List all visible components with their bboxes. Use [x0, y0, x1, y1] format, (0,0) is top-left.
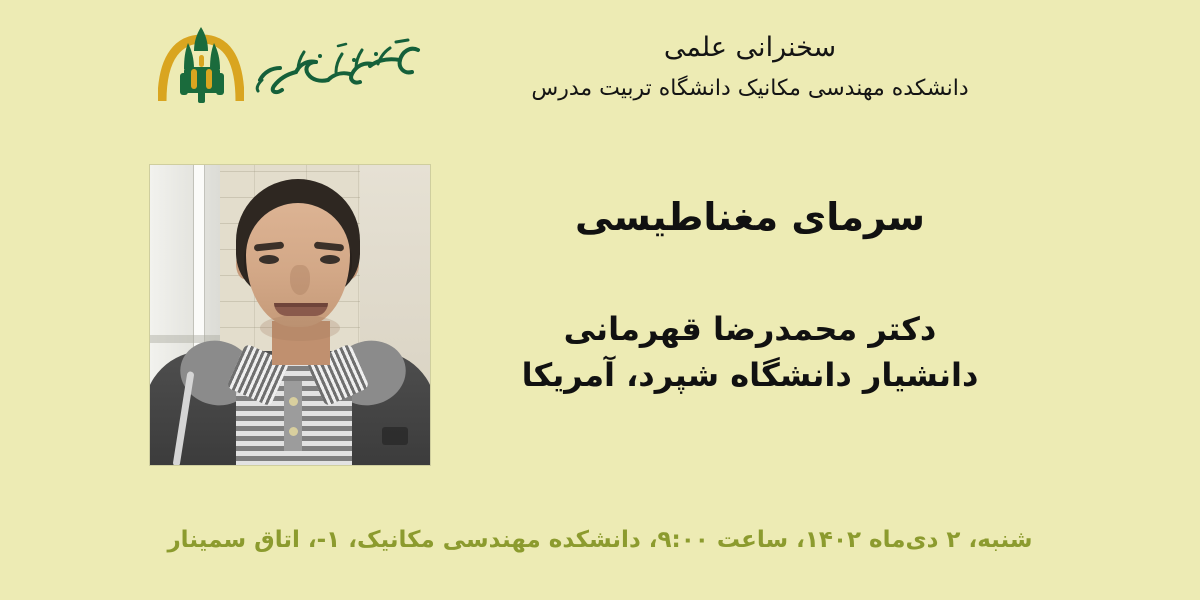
nose [290, 265, 310, 295]
vest-brand-patch [382, 427, 408, 445]
shirt-button [289, 427, 298, 436]
university-logo: دانشگاه تربیت مدرس [158, 24, 428, 106]
poster-main-text: سرمای مغناطیسی دکتر محمدرضا قهرمانی دانش… [440, 190, 1060, 398]
speaker-block: دکتر محمدرضا قهرمانی دانشیار دانشگاه شپر… [440, 306, 1060, 398]
event-details: شنبه، ۲ دی‌ماه ۱۴۰۲، ساعت ۹:۰۰، دانشکده … [0, 522, 1200, 558]
shirt-button [289, 397, 298, 406]
talk-title: سرمای مغناطیسی [440, 190, 1060, 244]
header-event-type: سخنرانی علمی [440, 28, 1060, 68]
tulip-wheat-emblem-icon [158, 25, 244, 105]
mouth [274, 303, 328, 316]
header-organizer: دانشکده مهندسی مکانیک دانشگاه تربیت مدرس [440, 72, 1060, 106]
eye-left [259, 255, 279, 264]
speaker-name: دکتر محمدرضا قهرمانی [440, 306, 1060, 352]
seminar-poster: دانشگاه تربیت مدرس سخنرانی علمی دانشکده … [0, 0, 1200, 600]
shirt-placket [284, 381, 302, 451]
speaker-affiliation: دانشیار دانشگاه شپرد، آمریکا [440, 352, 1060, 398]
poster-header: سخنرانی علمی دانشکده مهندسی مکانیک دانشگ… [440, 28, 1060, 106]
eye-right [320, 255, 340, 264]
logo-wordmark: دانشگاه تربیت مدرس [248, 33, 428, 97]
photo-background [150, 165, 430, 465]
speaker-photo [150, 165, 430, 465]
chin [260, 315, 340, 341]
